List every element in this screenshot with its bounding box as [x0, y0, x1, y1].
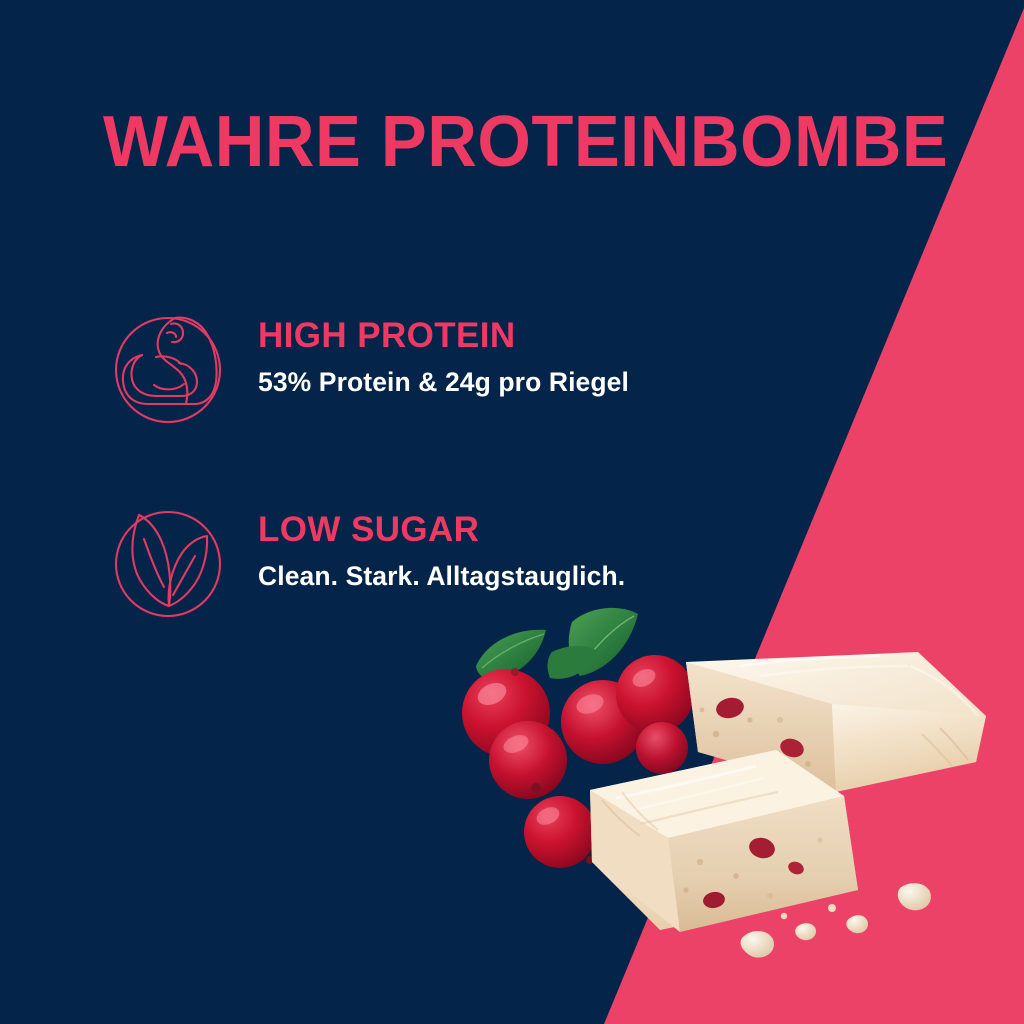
green-leaves — [476, 608, 638, 680]
feature-list: HIGH PROTEIN 53% Protein & 24g pro Riege… — [112, 300, 852, 626]
feature-title: LOW SUGAR — [258, 510, 625, 550]
feature-title: HIGH PROTEIN — [258, 316, 629, 356]
feature-subtitle: 53% Protein & 24g pro Riegel — [258, 366, 629, 398]
two-leaves-icon — [112, 494, 230, 626]
feature-text-block: LOW SUGAR Clean. Stark. Alltagstauglich. — [258, 494, 625, 592]
product-banner: WAHRE PROTEINBOMBE — [0, 0, 1024, 1024]
feature-item-high-protein: HIGH PROTEIN 53% Protein & 24g pro Riege… — [112, 300, 852, 432]
protein-bar-with-cranberries-photo — [440, 600, 1024, 960]
page-title: WAHRE PROTEINBOMBE — [103, 104, 924, 180]
flexing-bicep-icon — [112, 300, 230, 432]
feature-subtitle: Clean. Stark. Alltagstauglich. — [258, 560, 625, 592]
feature-text-block: HIGH PROTEIN 53% Protein & 24g pro Riege… — [258, 300, 629, 398]
